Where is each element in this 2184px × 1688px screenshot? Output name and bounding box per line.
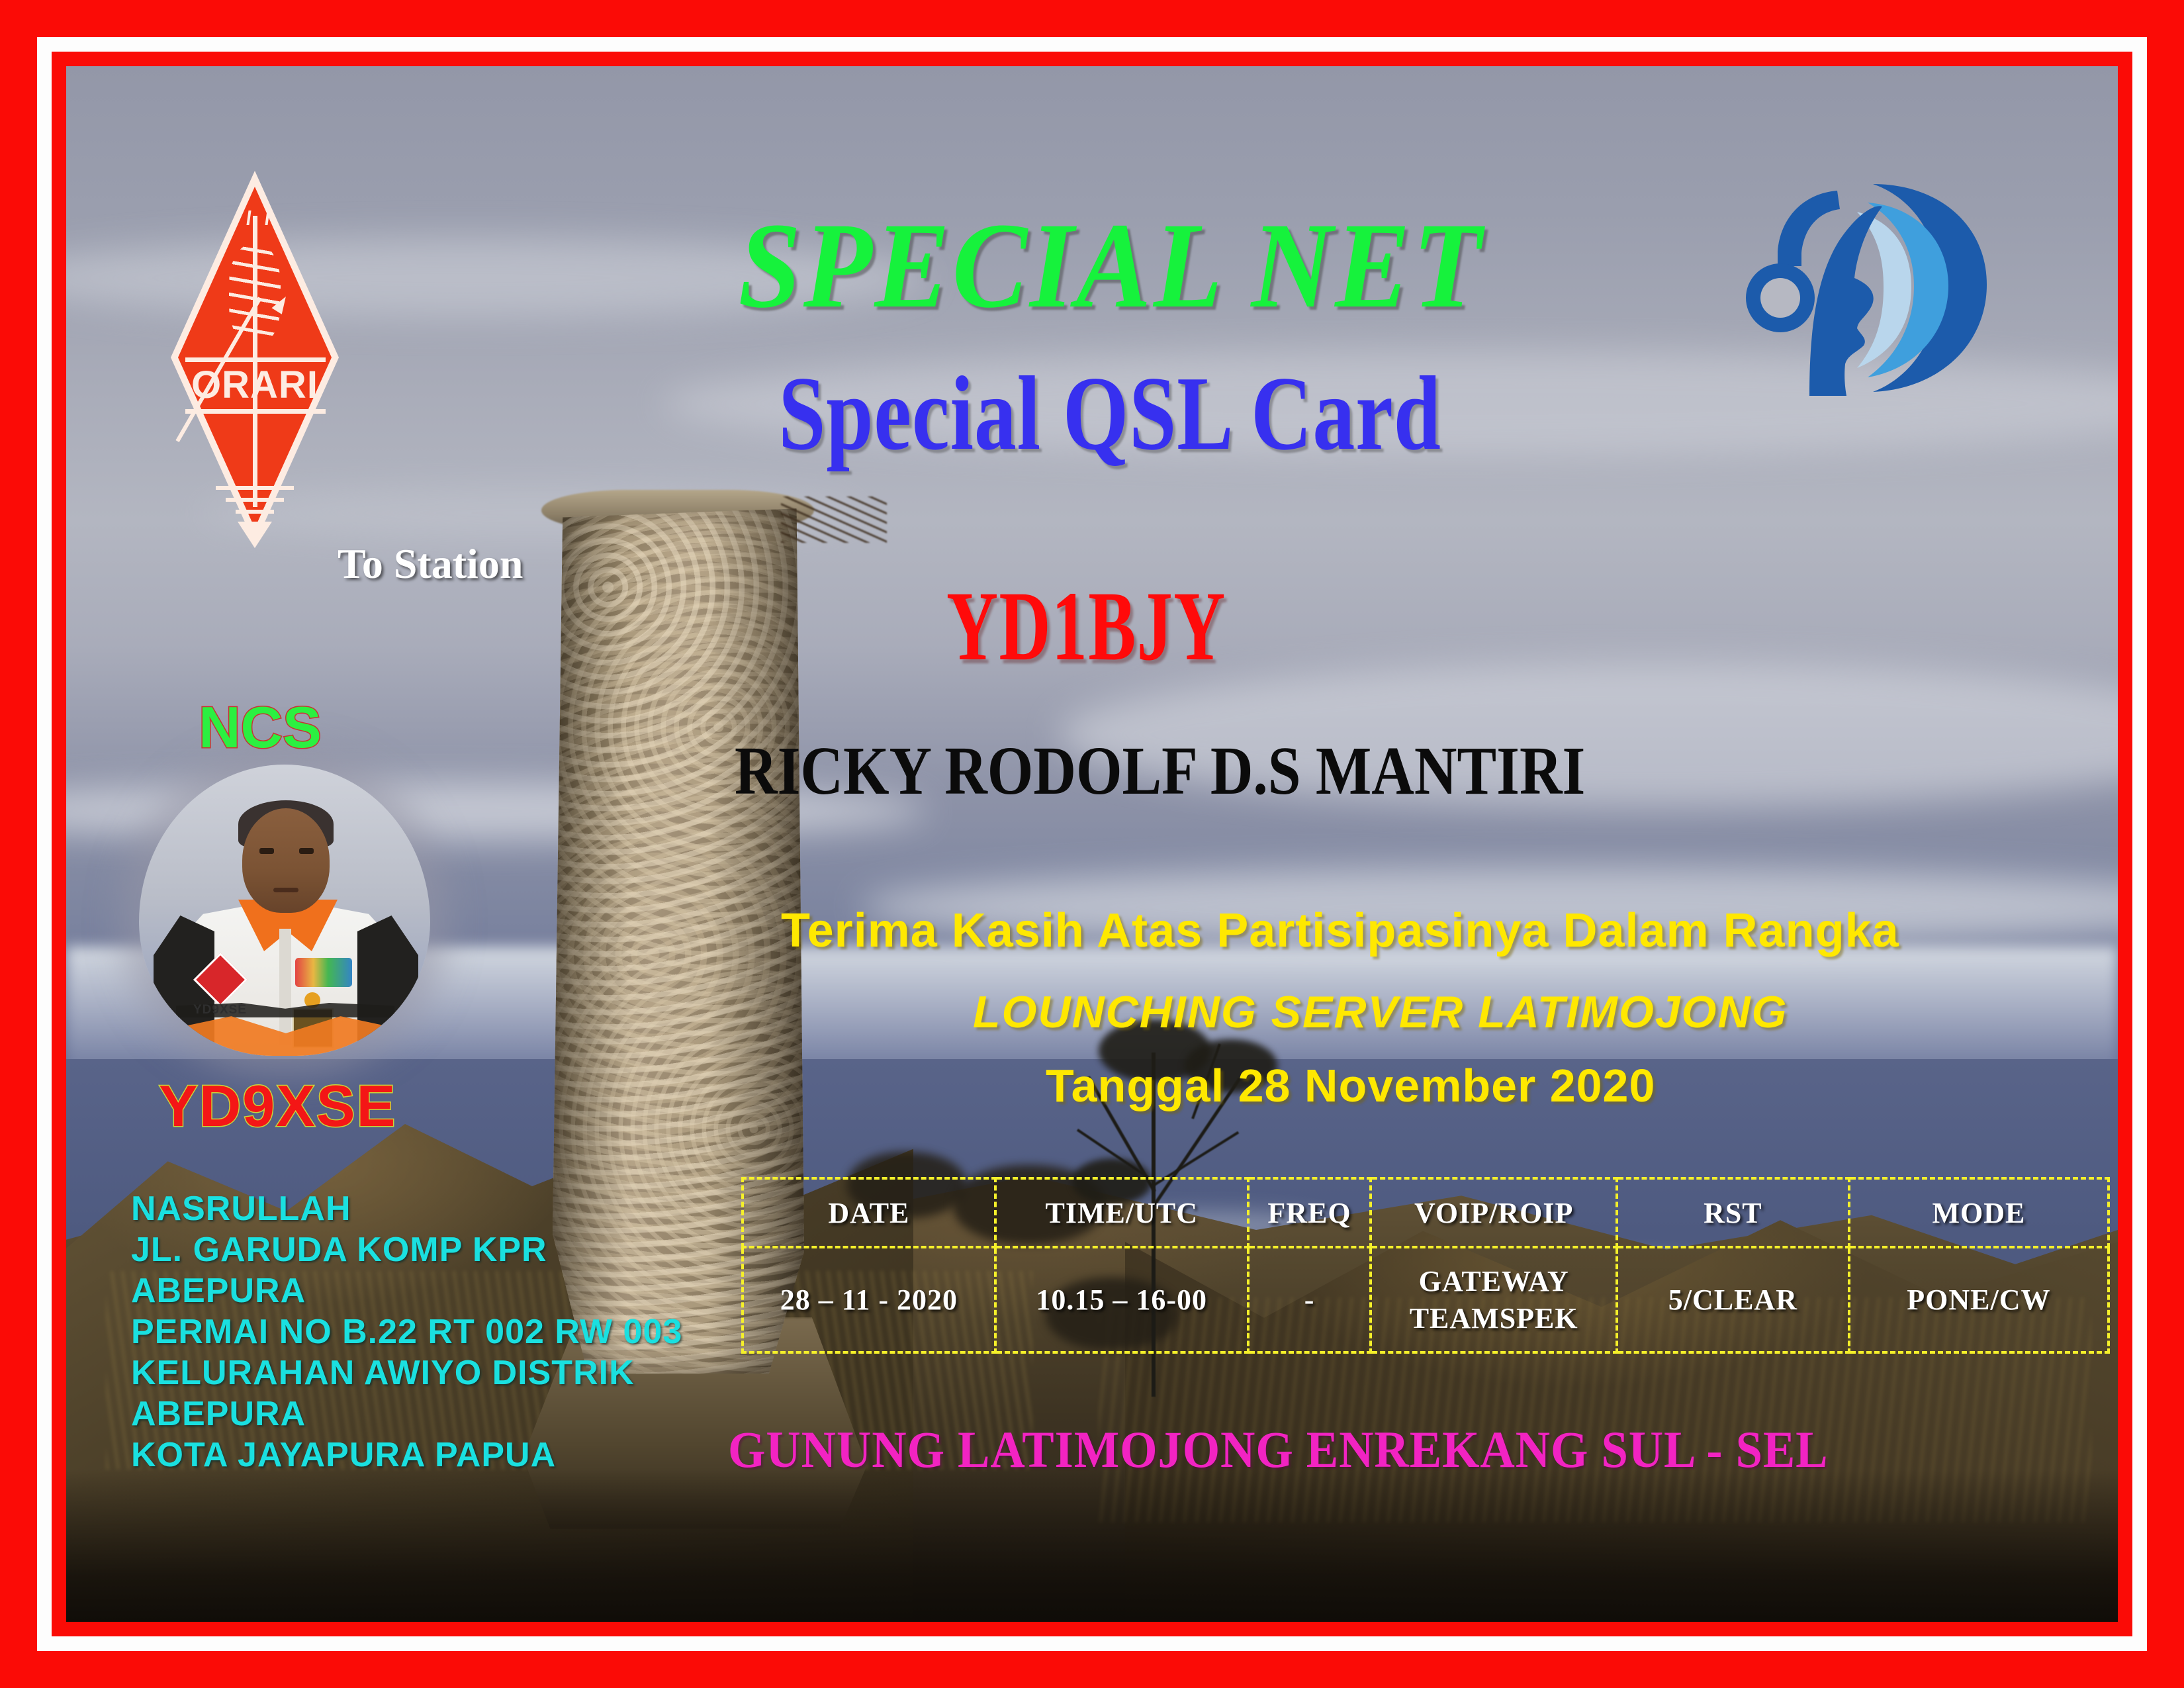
- column-header-date: DATE: [743, 1178, 995, 1247]
- qso-log-table: DATE TIME/UTC FREQ VOIP/ROIP RST MODE 28…: [741, 1177, 2110, 1354]
- operator-eye: [299, 848, 314, 854]
- column-header-freq: FREQ: [1248, 1178, 1371, 1247]
- address-line: NASRULLAH: [131, 1188, 682, 1229]
- cell-freq: -: [1248, 1247, 1371, 1352]
- cell-mode: PONE/CW: [1849, 1247, 2109, 1352]
- qsl-card: ORARI: [0, 0, 2184, 1688]
- column-header-rst: RST: [1617, 1178, 1849, 1247]
- thanks-line: Terima Kasih Atas Partisipasinya Dalam R…: [781, 904, 1899, 958]
- card-title-special-net: SPECIAL NET: [149, 195, 2055, 336]
- operator-face: [242, 808, 330, 913]
- cell-rst: 5/CLEAR: [1617, 1247, 1849, 1352]
- column-header-mode: MODE: [1849, 1178, 2109, 1247]
- uniform-placket: [279, 929, 291, 1045]
- ground-symbol-icon: [216, 486, 294, 490]
- cell-voip-line1: GATEWAY: [1372, 1263, 1615, 1300]
- column-header-voip: VOIP/ROIP: [1371, 1178, 1617, 1247]
- event-date-line: Tanggal 28 November 2020: [1046, 1059, 1655, 1112]
- cell-date: 28 – 11 - 2020: [743, 1247, 995, 1352]
- recipient-callsign: YD1BJY: [946, 569, 1226, 683]
- ground-symbol-icon: [226, 498, 284, 502]
- table-header-row: DATE TIME/UTC FREQ VOIP/ROIP RST MODE: [743, 1178, 2109, 1247]
- shirt-event-logo: [295, 958, 352, 987]
- operator-eye: [259, 848, 274, 854]
- address-line: KOTA JAYAPURA PAPUA: [131, 1434, 682, 1476]
- cell-time: 10.15 – 16-00: [995, 1247, 1248, 1352]
- ground-symbol-icon: [238, 522, 272, 548]
- ncs-label: NCS: [199, 694, 322, 761]
- location-line: GUNUNG LATIMOJONG ENREKANG SUL - SEL: [728, 1420, 1828, 1479]
- column-header-time: TIME/UTC: [995, 1178, 1248, 1247]
- address-line: JL. GARUDA KOMP KPR: [131, 1229, 682, 1270]
- ground-symbol-icon: [236, 510, 274, 514]
- ncs-callsign: YD9XSE: [159, 1072, 396, 1140]
- table-row: 28 – 11 - 2020 10.15 – 16-00 - GATEWAY T…: [743, 1247, 2109, 1352]
- address-line: KELURAHAN AWIYO DISTRIK: [131, 1352, 682, 1393]
- address-line: ABEPURA: [131, 1393, 682, 1434]
- card-subtitle-qsl: Special QSL Card: [273, 352, 1931, 475]
- operator-name: RICKY RODOLF D.S MANTIRI: [735, 731, 1585, 810]
- address-line: ABEPURA: [131, 1270, 682, 1311]
- operator-photo: YD9XSE: [139, 765, 430, 1056]
- twig: [781, 496, 887, 543]
- cell-voip: GATEWAY TEAMSPEK: [1371, 1247, 1617, 1352]
- card-background-photo: ORARI: [66, 66, 2118, 1622]
- occasion-line: LOUNCHING SERVER LATIMOJONG: [973, 986, 1788, 1038]
- operator-mouth: [273, 888, 298, 892]
- to-station-label: To Station: [338, 539, 523, 588]
- address-line: PERMAI NO B.22 RT 002 RW 003: [131, 1311, 682, 1352]
- shirt-callsign-text: YD9XSE: [193, 1003, 247, 1017]
- postal-address-block: NASRULLAH JL. GARUDA KOMP KPR ABEPURA PE…: [131, 1188, 682, 1476]
- foreground-shadow: [66, 1470, 2118, 1622]
- cell-voip-line2: TEAMSPEK: [1372, 1300, 1615, 1337]
